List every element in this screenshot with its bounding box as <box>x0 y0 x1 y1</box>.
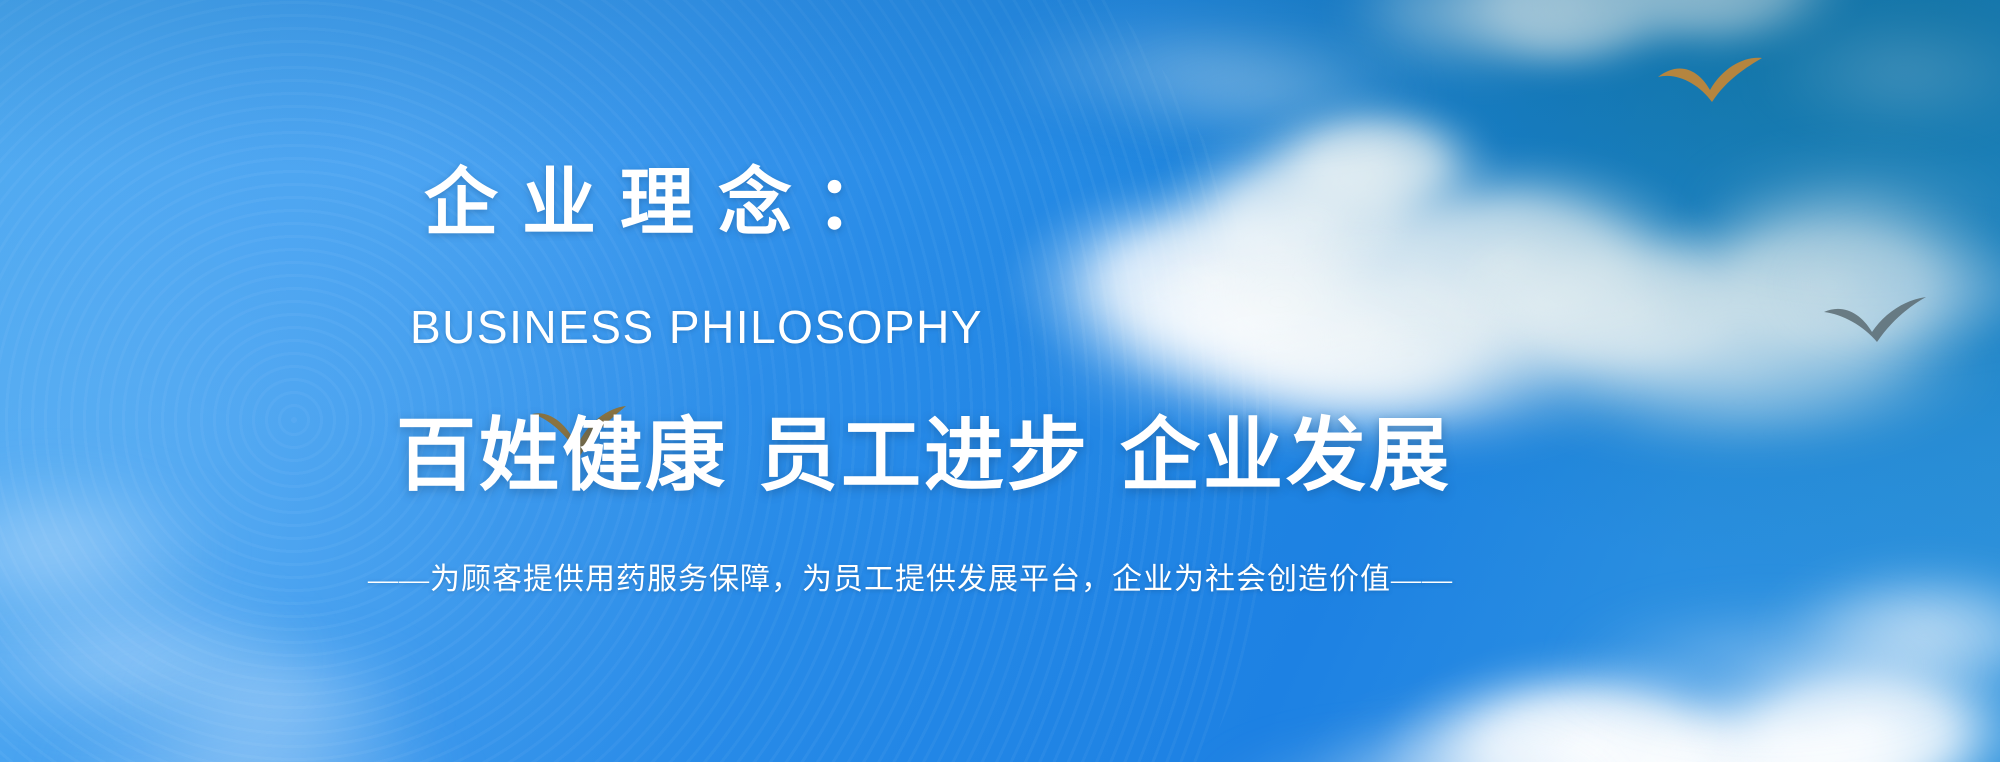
page-title: 企业理念： <box>424 166 914 240</box>
banner-text-content: 企业理念： BUSINESS PHILOSOPHY 百姓健康员工进步企业发展 —… <box>0 0 2000 762</box>
page-subtitle-english: BUSINESS PHILOSOPHY <box>410 304 983 350</box>
slogan-part-1: 百姓健康 <box>396 411 728 500</box>
slogan-line: 百姓健康员工进步企业发展 <box>396 416 1452 496</box>
business-philosophy-banner: 企业理念： BUSINESS PHILOSOPHY 百姓健康员工进步企业发展 —… <box>0 0 2000 762</box>
tagline: ——为顾客提供用药服务保障，为员工提供发展平台，企业为社会创造价值—— <box>368 565 1453 595</box>
slogan-part-2: 员工进步 <box>758 411 1090 500</box>
slogan-part-3: 企业发展 <box>1120 411 1452 500</box>
